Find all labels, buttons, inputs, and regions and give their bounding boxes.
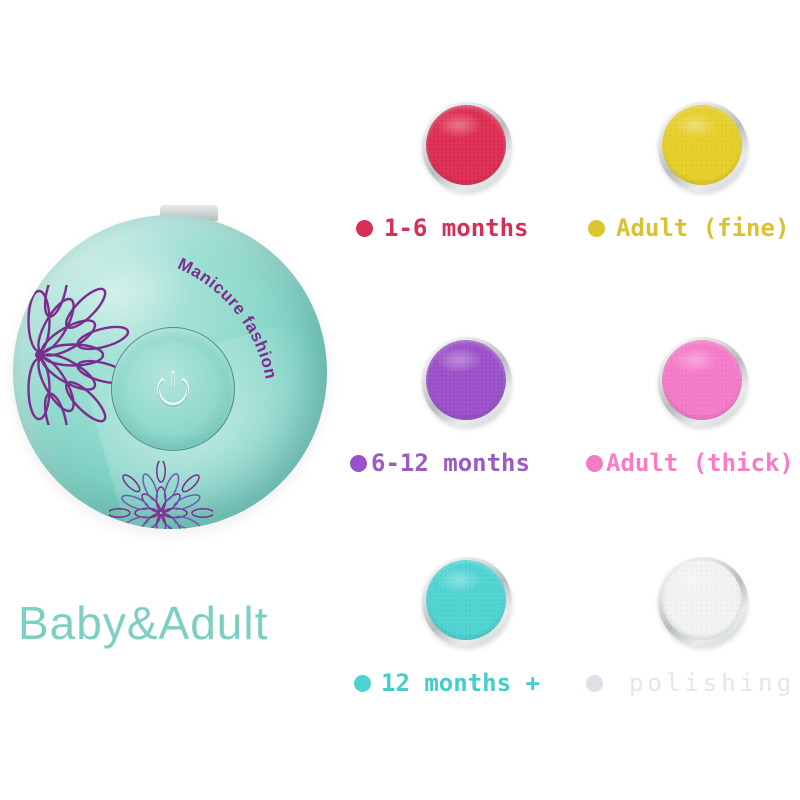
legend-bullet-icon: [356, 220, 373, 237]
disc-gloss: [436, 567, 482, 593]
nail-trimmer-device: Manicure fashion: [8, 205, 338, 575]
attachment-legend: 6-12 months: [340, 443, 580, 483]
attachment-label: polishing: [629, 669, 795, 697]
attachment-legend: 1-6 months: [340, 208, 586, 248]
disc-gloss: [436, 347, 482, 373]
attachment-grid: 1-6 months Adult (fine): [340, 96, 800, 706]
attachment-item[interactable]: Adult (thick): [570, 331, 800, 531]
disc-gloss: [672, 567, 718, 593]
power-button-face: [126, 342, 220, 436]
attachment-item[interactable]: 6-12 months: [340, 331, 570, 531]
attachment-item[interactable]: Adult (fine): [570, 96, 800, 296]
sanding-disc[interactable]: [658, 102, 748, 192]
legend-bullet-icon: [588, 220, 605, 237]
legend-bullet-icon: [586, 675, 603, 692]
disc-surface: [426, 340, 506, 420]
attachment-label: Adult (fine): [616, 214, 789, 242]
attachment-legend: polishing: [570, 663, 800, 703]
product-image-canvas: Manicure fashion: [0, 0, 800, 800]
sanding-disc[interactable]: [422, 102, 512, 192]
disc-gloss: [436, 112, 482, 138]
attachment-item[interactable]: 12 months +: [340, 551, 570, 751]
flower-decal-small: [109, 461, 213, 529]
disc-surface: [662, 340, 742, 420]
attachment-item[interactable]: polishing: [570, 551, 800, 751]
attachment-legend: Adult (fine): [570, 208, 800, 248]
power-icon: [152, 367, 194, 409]
disc-surface: [426, 560, 506, 640]
attachment-label: 1-6 months: [384, 214, 529, 242]
attachment-label: 12 months +: [381, 669, 540, 697]
attachment-item[interactable]: 1-6 months: [340, 96, 570, 296]
sanding-disc[interactable]: [658, 337, 748, 427]
sanding-disc[interactable]: [658, 557, 748, 647]
attachment-label: Adult (thick): [606, 449, 794, 477]
attachment-legend: Adult (thick): [570, 443, 800, 483]
disc-surface: [426, 105, 506, 185]
power-button[interactable]: [111, 327, 235, 451]
legend-bullet-icon: [350, 455, 367, 472]
disc-surface: [662, 105, 742, 185]
legend-bullet-icon: [586, 455, 603, 472]
attachment-label: 6-12 months: [371, 449, 530, 477]
device-body: Manicure fashion: [13, 215, 327, 529]
sanding-disc[interactable]: [422, 557, 512, 647]
sanding-disc[interactable]: [422, 337, 512, 427]
attachment-legend: 12 months +: [340, 663, 584, 703]
legend-bullet-icon: [354, 675, 371, 692]
disc-gloss: [672, 112, 718, 138]
disc-gloss: [672, 347, 718, 373]
disc-surface: [662, 560, 742, 640]
page-title: Baby&Adult: [18, 596, 268, 650]
